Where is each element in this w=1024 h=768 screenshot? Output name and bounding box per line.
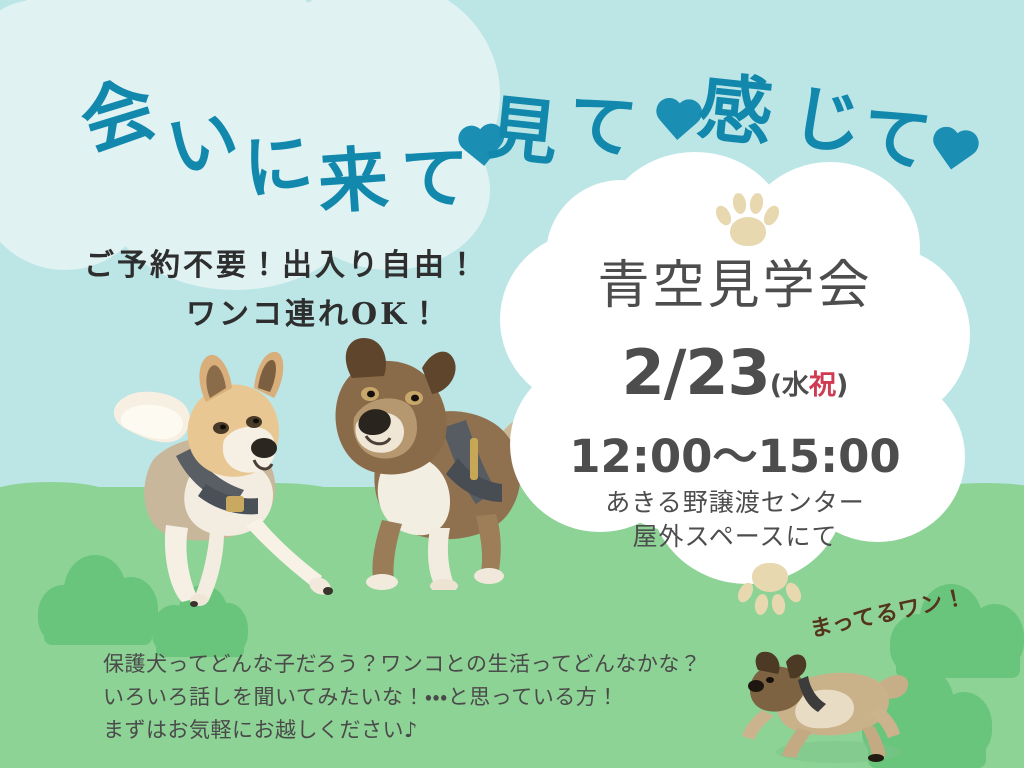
dog-photo-small <box>742 648 918 764</box>
weekday-kanji: 水 <box>782 370 809 401</box>
headline-char-5: 見 <box>485 93 562 170</box>
paren-open: ( <box>770 370 782 401</box>
headline-char-7: 感 <box>694 70 775 151</box>
body-copy-line1: 保護犬ってどんな子だろう？ワンコとの生活ってどんなかな？ <box>103 648 701 678</box>
headline-char-0: 会 <box>73 71 163 161</box>
headline-char-8: じ <box>787 81 866 160</box>
event-venue-line2: 屋外スペースにて <box>500 517 970 553</box>
body-copy-line2: いろいろ話しを聞いてみたいな！・・・と思っている方！ <box>103 681 619 711</box>
headline-char-2: に <box>240 128 317 205</box>
headline-char-3: 来 <box>316 144 391 219</box>
body-copy-line3: まずはお気軽にお越しください♪ <box>103 714 418 744</box>
paren-close: ) <box>836 370 848 401</box>
headline-char-1: い <box>161 101 244 184</box>
headline-char-9: て <box>857 99 936 178</box>
subtitle-line1: ご予約不要！出入り自由！ <box>84 240 480 284</box>
event-title: 青空見学会 <box>500 243 970 318</box>
headline: 会 い に 来 て 見 て 感 じ て <box>60 48 980 198</box>
paw-print-icon-bottom <box>737 560 803 622</box>
headline-char-4: て <box>399 143 469 213</box>
event-venue-line1: あきる野譲渡センター <box>500 483 970 519</box>
event-day-of-week: (水祝) <box>770 370 849 401</box>
poster-canvas: 青空見学会 2/23(水祝) 12:00〜15:00 あきる野譲渡センター 屋外… <box>0 0 1024 768</box>
headline-char-6: て <box>564 88 641 165</box>
event-time: 12:00〜15:00 <box>500 420 970 485</box>
holiday-kanji: 祝 <box>809 370 836 401</box>
event-date-row: 2/23(水祝) <box>500 336 970 409</box>
subtitle-line2: ワンコ連れOK！ <box>186 289 442 333</box>
dog-photo-left <box>58 330 348 610</box>
event-date: 2/23 <box>622 336 770 409</box>
